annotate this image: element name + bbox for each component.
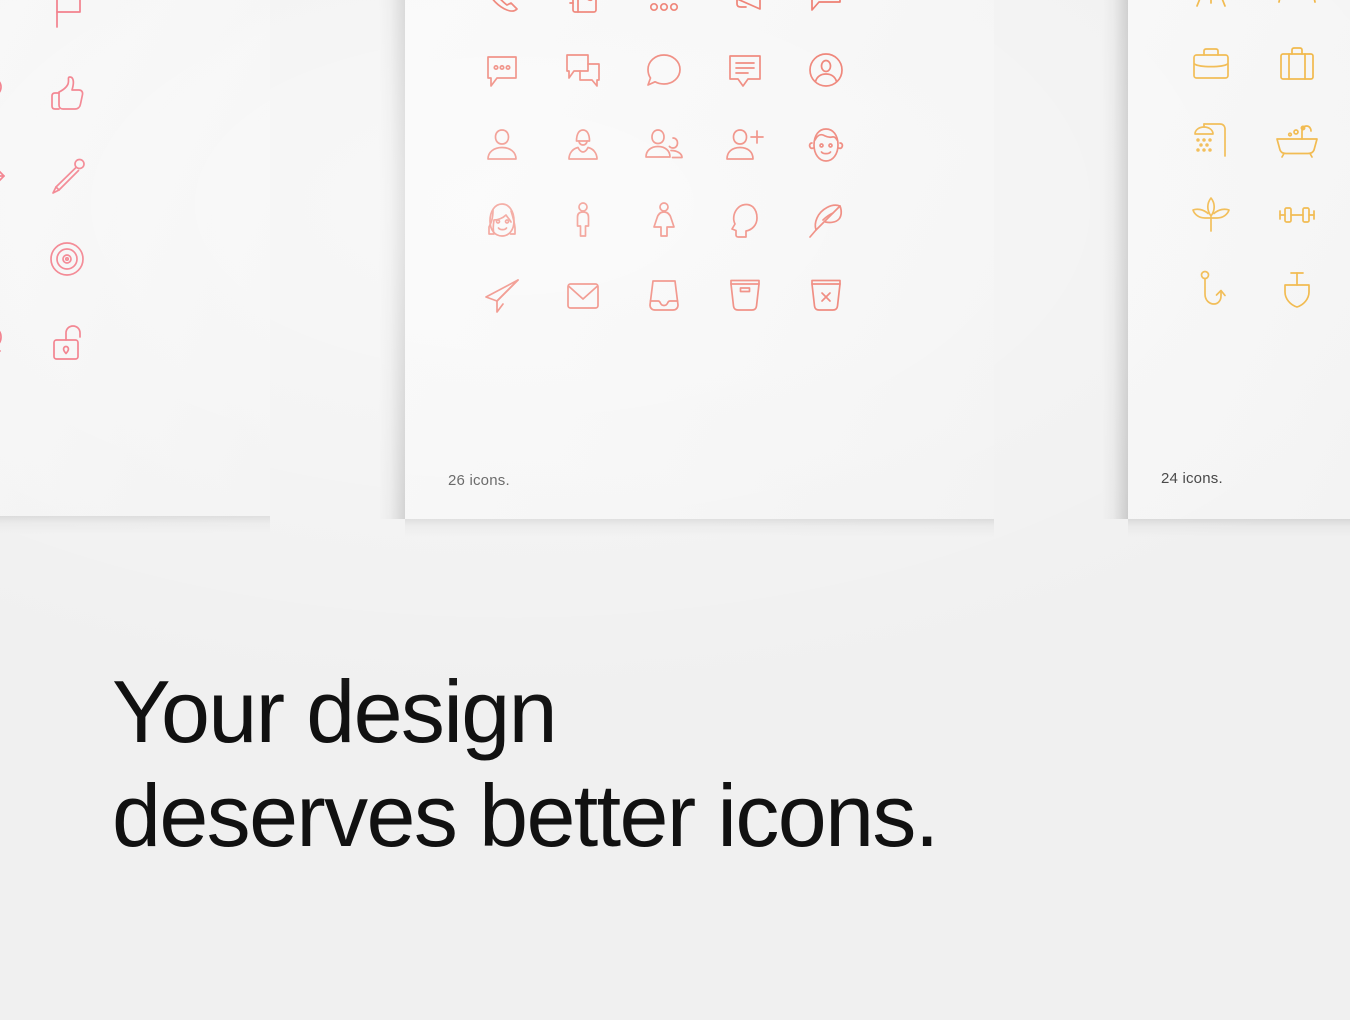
chat-lines-icon[interactable] — [704, 33, 785, 108]
bathtub-icon[interactable] — [1254, 102, 1340, 177]
envelope-icon[interactable] — [542, 258, 623, 333]
archive-box-icon[interactable] — [704, 258, 785, 333]
chat-double-icon[interactable] — [542, 33, 623, 108]
cut-right-partial-icon[interactable] — [1340, 102, 1350, 177]
travel-bag-icon[interactable] — [1254, 27, 1340, 102]
card-shadow-center — [405, 519, 994, 537]
move-arrows-icon[interactable] — [0, 134, 26, 217]
megaphone-icon[interactable] — [704, 0, 785, 33]
flag-pennant-icon[interactable] — [0, 0, 26, 51]
target-icon[interactable] — [26, 217, 107, 300]
shovel-icon[interactable] — [1254, 252, 1340, 327]
key-icon[interactable] — [0, 51, 26, 134]
chat-round-icon[interactable] — [623, 33, 704, 108]
head-profile-icon[interactable] — [704, 183, 785, 258]
page-headline: Your design deserves better icons. — [112, 660, 1212, 868]
phone-handset-icon[interactable] — [461, 0, 542, 33]
cut-right-partial-icon[interactable] — [1340, 27, 1350, 102]
table-icon[interactable] — [1254, 0, 1340, 27]
paper-plane-icon[interactable] — [461, 258, 542, 333]
cut-right-partial-icon[interactable] — [1340, 177, 1350, 252]
card-shadow-right — [1128, 519, 1350, 537]
boy-face-icon[interactable] — [785, 108, 866, 183]
user-add-icon[interactable] — [704, 108, 785, 183]
briefcase-icon[interactable] — [1168, 27, 1254, 102]
user-female-icon[interactable] — [542, 108, 623, 183]
feather-quill-icon[interactable] — [785, 183, 866, 258]
shower-icon[interactable] — [1168, 102, 1254, 177]
dial-pad-icon[interactable] — [623, 0, 704, 33]
user-male-icon[interactable] — [461, 108, 542, 183]
icon-poster-center[interactable]: 26 icons. — [405, 0, 994, 519]
card-shadow-left — [0, 516, 270, 534]
icon-grid-right — [1168, 0, 1350, 327]
inbox-tray-icon[interactable] — [623, 258, 704, 333]
restroom-male-icon[interactable] — [542, 183, 623, 258]
unlock-icon[interactable] — [26, 300, 107, 383]
chat-dots-icon[interactable] — [461, 33, 542, 108]
tag-icon[interactable] — [0, 217, 26, 300]
contact-book-icon[interactable] — [542, 0, 623, 33]
armchair-icon[interactable] — [1168, 0, 1254, 27]
icon-poster-left[interactable] — [0, 0, 270, 516]
speech-bubble-icon[interactable] — [785, 0, 866, 33]
users-group-icon[interactable] — [623, 108, 704, 183]
lotus-flower-icon[interactable] — [1168, 177, 1254, 252]
icon-poster-right[interactable]: 24 icons. — [1128, 0, 1350, 519]
dumbbell-icon[interactable] — [1254, 177, 1340, 252]
card-caption-right: 24 icons. — [1161, 470, 1223, 487]
thumbs-up-icon[interactable] — [26, 51, 107, 134]
fishing-hook-icon[interactable] — [1168, 252, 1254, 327]
delete-box-icon[interactable] — [785, 258, 866, 333]
icon-grid-left — [0, 0, 107, 466]
icon-grid-center — [461, 0, 866, 333]
flag-icon[interactable] — [26, 0, 107, 51]
poster-band: 26 icons. — [0, 0, 1350, 540]
restroom-female-icon[interactable] — [623, 183, 704, 258]
broken-link-icon[interactable] — [0, 300, 26, 383]
cut-right-partial-icon[interactable] — [1340, 0, 1350, 27]
card-caption-center: 26 icons. — [448, 472, 510, 489]
cut-right-partial-icon[interactable] — [1340, 252, 1350, 327]
pen-icon[interactable] — [26, 134, 107, 217]
user-circle-icon[interactable] — [785, 33, 866, 108]
poster-scene: 26 icons. — [0, 0, 1350, 1020]
girl-face-icon[interactable] — [461, 183, 542, 258]
